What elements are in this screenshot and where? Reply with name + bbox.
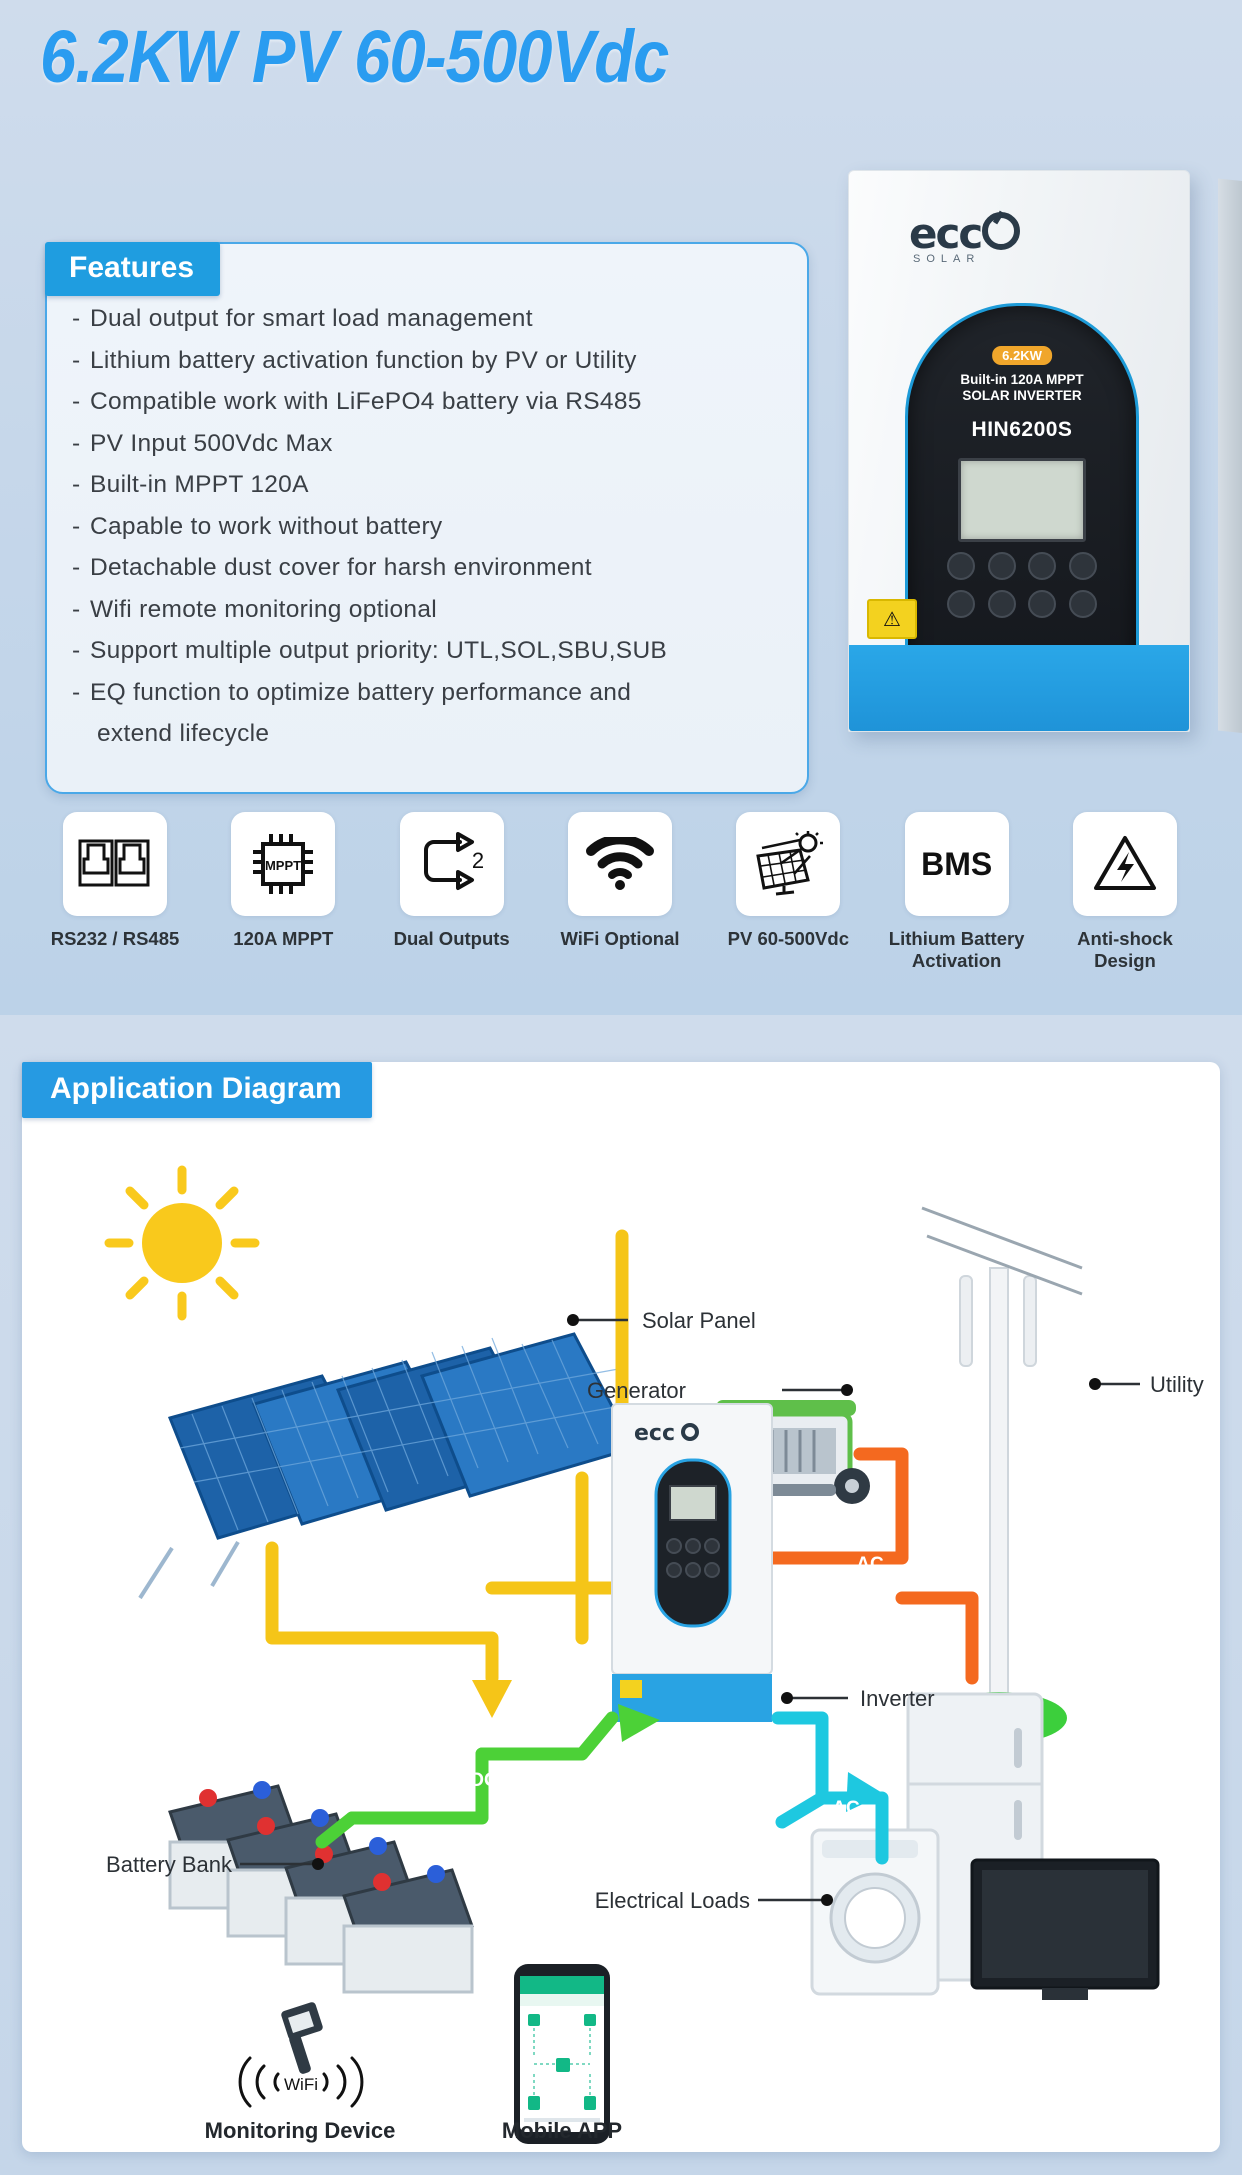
feature-item: -Detachable dust cover for harsh environ… [72,547,792,589]
feature-item: -Capable to work without battery [72,506,792,548]
label-generator: Generator [587,1378,686,1404]
bullet-dash: - [72,672,90,714]
feature-text: Detachable dust cover for harsh environm… [90,554,592,581]
feature-text: PV Input 500Vdc Max [90,430,333,457]
label-monitoring-device: Monitoring Device [205,2118,396,2144]
inverter-feature-line2: SOLAR INVERTER [962,388,1081,403]
feature-text-continued: extend lifecycle [72,713,792,755]
features-badge: Features [45,242,220,296]
icon-label: Dual Outputs [377,928,527,950]
feature-text: Compatible work with LiFePO4 battery via… [90,388,642,415]
icon-label: WiFi Optional [545,928,695,950]
icon-cell-mppt: MPPT 120A MPPT [208,812,358,972]
icon-cell-wifi: WiFi Optional [545,812,695,972]
inverter-button [1028,590,1056,618]
feature-item: -Support multiple output priority: UTL,S… [72,630,792,672]
chip-icon: MPPT [247,828,319,900]
monitoring-device-icon: WiFi [240,2001,362,2106]
feature-text: Built-in MPPT 120A [90,471,309,498]
feature-item: -PV Input 500Vdc Max [72,423,792,465]
feature-item: extend lifecycle [72,713,792,755]
inverter-button [1069,552,1097,580]
warning-triangle-bolt-icon [1092,834,1158,894]
bullet-dash: - [72,464,90,506]
rs232-rs485-icon [63,812,167,916]
icon-label: Lithium Battery Activation [882,928,1032,972]
label-utility: Utility [1150,1372,1204,1398]
inverter-button [1069,590,1097,618]
ac-tag-utility: AC [856,1554,884,1575]
icon-label: 120A MPPT [208,928,358,950]
feature-text: Support multiple output priority: UTL,SO… [90,637,667,664]
inverter-feature-text: Built-in 120A MPPT SOLAR INVERTER [908,372,1136,404]
feature-item: -Wifi remote monitoring optional [72,589,792,631]
label-inverter: Inverter [860,1686,935,1712]
brand-logo-ring-icon [982,212,1020,250]
feature-item: -Dual output for smart load management [72,298,792,340]
dual-output-icon: 2 [400,812,504,916]
dc-tag-battery: DC [470,1770,498,1791]
label-solar-panel: Solar Panel [642,1308,756,1334]
feature-text: Lithium battery activation function by P… [90,347,637,374]
icon-cell-pv-input: PV 60-500Vdc [713,812,863,972]
inverter-button-row-1 [947,552,1097,580]
anti-shock-icon [1073,812,1177,916]
bullet-dash: - [72,340,90,382]
product-datasheet-page: 6.2KW PV 60-500Vdc ecc SOLAR 6.2KW Built… [0,0,1242,2175]
utility-pole-icon [922,1208,1082,1744]
bullet-dash: - [72,423,90,465]
inverter-lcd-screen [958,458,1086,542]
inverter-model: HIN6200S [908,418,1136,442]
bullet-dash: - [72,381,90,423]
wifi-text-label: WiFi [284,2075,318,2094]
mppt-chip-icon: MPPT [231,812,335,916]
warning-label-icon: ⚠ [867,599,917,639]
inverter-button [1028,552,1056,580]
svg-text:ecc: ecc [634,1421,675,1446]
icon-label: RS232 / RS485 [40,928,190,950]
electrical-loads-icons [812,1694,1158,2000]
feature-item: -Compatible work with LiFePO4 battery vi… [72,381,792,423]
brand-logo: ecc [909,209,1020,258]
brand-logo-text: ecc [909,209,981,258]
two-arrows-icon: 2 [416,832,488,896]
icon-cell-anti-shock: Anti-shock Design [1050,812,1200,972]
bms-icon: BMS [905,812,1009,916]
icon-cell-rs232-rs485: RS232 / RS485 [40,812,190,972]
icon-cell-bms: BMS Lithium Battery Activation [882,812,1032,972]
inverter-button [947,552,975,580]
inverter-diagram-unit: ecc [612,1404,772,1722]
inverter-feature-line1: Built-in 120A MPPT [960,372,1083,387]
feature-text: Capable to work without battery [90,513,442,540]
feature-item: -EQ function to optimize battery perform… [72,672,792,714]
feature-icon-strip: RS232 / RS485 MPPT [40,812,1200,972]
ac-tag-load: AC [832,1798,860,1819]
feature-text: EQ function to optimize battery performa… [90,679,631,706]
wifi-waves-icon [585,837,655,891]
solar-panel-icon [736,812,840,916]
icon-label: Anti-shock Design [1050,928,1200,972]
label-battery-bank: Battery Bank [106,1852,232,1878]
sun-icon [109,1170,255,1316]
svg-text:2: 2 [472,848,484,873]
inverter-side-panel [1218,179,1242,734]
inverter-button-row-2 [947,590,1097,618]
power-badge: 6.2KW [992,346,1052,365]
wifi-icon [568,812,672,916]
solar-panel-sun-icon [750,830,826,898]
bullet-dash: - [72,630,90,672]
inverter-product-image: ecc SOLAR 6.2KW Built-in 120A MPPT SOLAR… [848,170,1220,810]
bullet-dash: - [72,506,90,548]
feature-text: Wifi remote monitoring optional [90,596,437,623]
inverter-body: ecc SOLAR 6.2KW Built-in 120A MPPT SOLAR… [848,170,1190,732]
diagram-svg: DC [22,1118,1220,2148]
icon-label: PV 60-500Vdc [713,928,863,950]
brand-logo-sub: SOLAR [913,253,980,265]
inverter-button [988,552,1016,580]
dc-tag-pv: DC [480,1602,508,1623]
bms-text: BMS [921,846,992,883]
page-title: 6.2KW PV 60-500Vdc [40,18,1061,96]
icon-cell-dual-outputs: 2 Dual Outputs [377,812,527,972]
feature-item: -Lithium battery activation function by … [72,340,792,382]
solar-panel-array [140,1334,634,1598]
pv-cable-arrow [472,1680,512,1718]
bullet-dash: - [72,589,90,631]
application-badge: Application Diagram [22,1062,372,1118]
inverter-front-panel: 6.2KW Built-in 120A MPPT SOLAR INVERTER … [905,303,1139,689]
application-diagram: DC [22,1118,1220,2148]
svg-text:MPPT: MPPT [265,858,301,873]
inverter-button [947,590,975,618]
mobile-app-icon [514,1964,610,2144]
feature-item: -Built-in MPPT 120A [72,464,792,506]
bullet-dash: - [72,547,90,589]
battery-dc-cable [322,1718,612,1842]
label-mobile-app: Mobile APP [502,2118,622,2144]
label-electrical-loads: Electrical Loads [595,1888,750,1914]
rj45-ports-icon [78,837,152,891]
features-list: -Dual output for smart load management -… [72,298,792,755]
inverter-base-strip [849,645,1189,731]
bullet-dash: - [72,298,90,340]
inverter-button [988,590,1016,618]
feature-text: Dual output for smart load management [90,305,533,332]
